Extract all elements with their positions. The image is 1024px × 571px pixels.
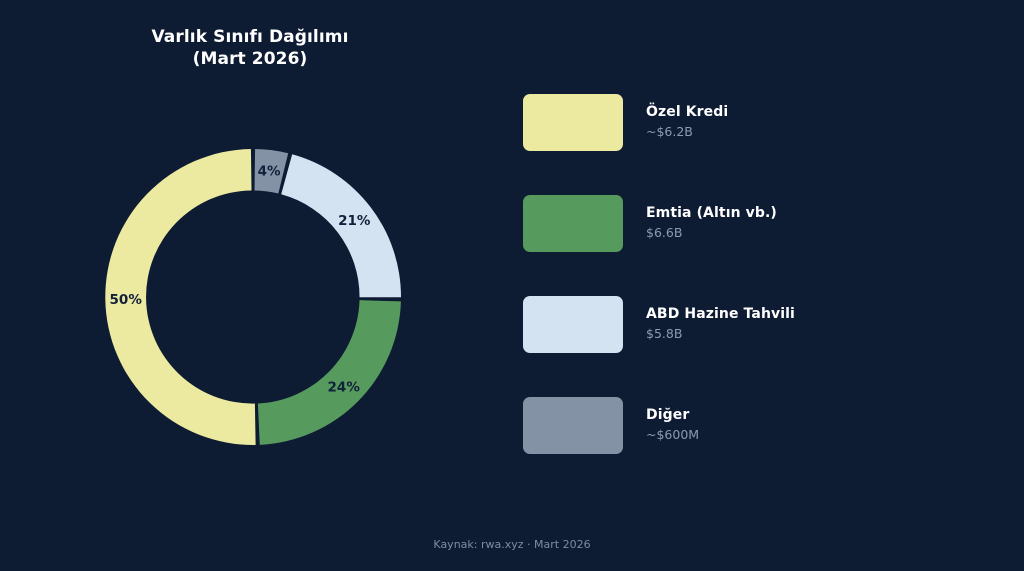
legend-value-abd-hazine-tahvili: $5.8B (646, 325, 795, 343)
legend-text-emtia: Emtia (Altın vb.) $6.6B (646, 204, 777, 242)
legend: Özel Kredi ~$6.2B Emtia (Altın vb.) $6.6… (523, 94, 953, 454)
page-title-line1: Varlık Sınıfı Dağılımı (151, 27, 348, 47)
legend-item-ozel-kredi[interactable]: Özel Kredi ~$6.2B (523, 94, 953, 151)
donut-slices (105, 149, 401, 445)
page-title: Varlık Sınıfı Dağılımı (Mart 2026) (0, 6, 500, 91)
legend-swatch-emtia (523, 195, 623, 252)
legend-text-abd-hazine-tahvili: ABD Hazine Tahvili $5.8B (646, 305, 795, 343)
donut-chart-svg: 4% 21% 24% 50% (103, 147, 403, 447)
legend-text-diger: Diğer ~$600M (646, 406, 699, 444)
legend-label-diger: Diğer (646, 406, 699, 425)
slice-label-emtia: 24% (328, 379, 361, 395)
legend-value-diger: ~$600M (646, 426, 699, 444)
legend-label-abd-hazine-tahvili: ABD Hazine Tahvili (646, 305, 795, 324)
legend-swatch-abd-hazine-tahvili (523, 296, 623, 353)
legend-item-abd-hazine-tahvili[interactable]: ABD Hazine Tahvili $5.8B (523, 296, 953, 353)
legend-label-emtia: Emtia (Altın vb.) (646, 204, 777, 223)
legend-item-diger[interactable]: Diğer ~$600M (523, 397, 953, 454)
legend-value-emtia: $6.6B (646, 224, 777, 242)
source-note: Kaynak: rwa.xyz · Mart 2026 (0, 538, 1024, 551)
chart-page: Varlık Sınıfı Dağılımı (Mart 2026) 4% 21… (0, 0, 1024, 571)
legend-label-ozel-kredi: Özel Kredi (646, 103, 728, 122)
source-note-text: Kaynak: rwa.xyz · Mart 2026 (433, 538, 590, 551)
slice-label-ozel-kredi: 50% (110, 292, 143, 308)
slice-label-diger: 4% (258, 164, 281, 180)
legend-item-emtia[interactable]: Emtia (Altın vb.) $6.6B (523, 195, 953, 252)
legend-value-ozel-kredi: ~$6.2B (646, 123, 728, 141)
legend-swatch-ozel-kredi (523, 94, 623, 151)
donut-slice-emtia-altin-vb[interactable] (258, 300, 401, 445)
legend-swatch-diger (523, 397, 623, 454)
donut-chart: 4% 21% 24% 50% (103, 147, 403, 447)
page-title-line2: (Mart 2026) (0, 49, 500, 70)
legend-text-ozel-kredi: Özel Kredi ~$6.2B (646, 103, 728, 141)
slice-label-abd: 21% (338, 213, 371, 229)
